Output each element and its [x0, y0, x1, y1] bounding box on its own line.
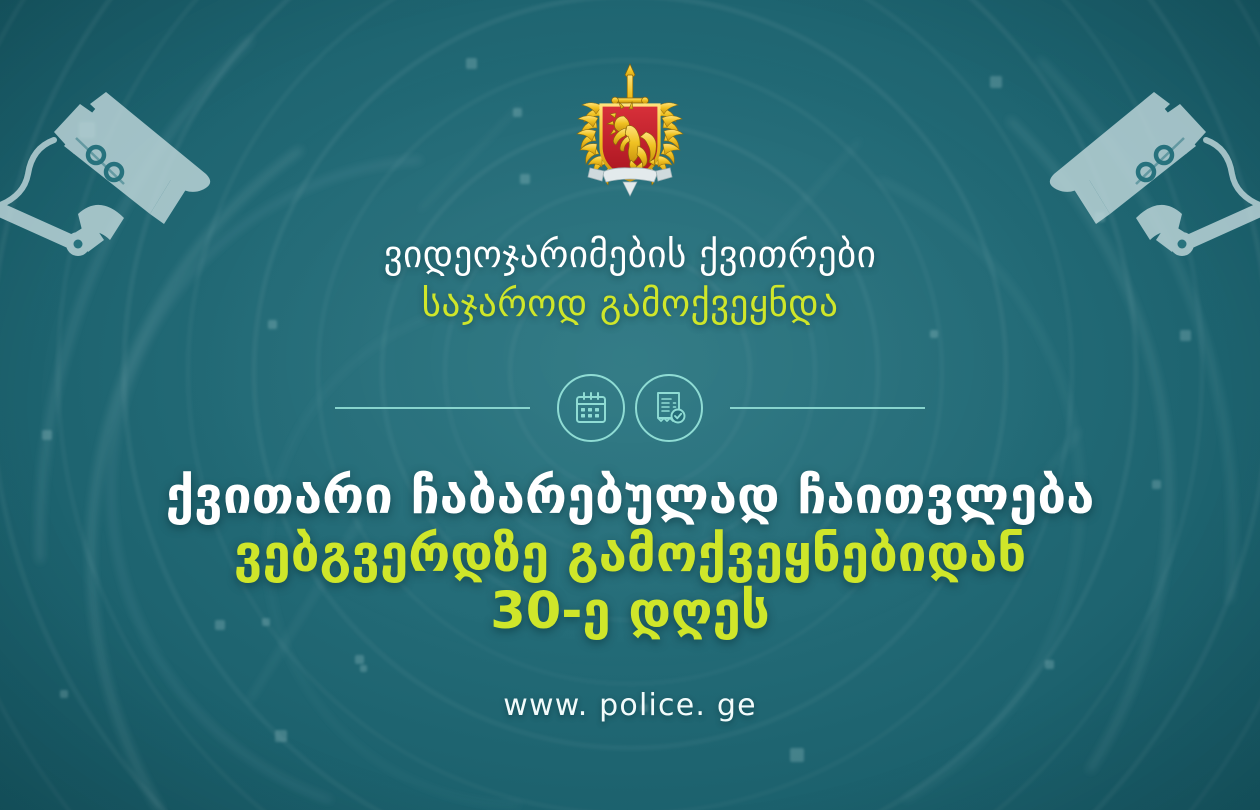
- subtitle-block: ვიდეოჯარიმების ქვითრები საჯაროდ გამოქვეყ…: [0, 232, 1260, 326]
- icon-divider: [0, 368, 1260, 448]
- headline-line-2: ვებგვერდზე გამოქვეყნებიდან: [0, 526, 1260, 584]
- headline-line-3: 30-ე დღეს: [0, 583, 1260, 641]
- headline-block: ქვითარი ჩაბარებულად ჩაითვლება ვებგვერდზე…: [0, 468, 1260, 641]
- calendar-icon-badge: [557, 374, 625, 442]
- subtitle-line-1: ვიდეოჯარიმების ქვითრები: [0, 232, 1260, 277]
- ministry-of-internal-affairs-emblem: [570, 58, 690, 200]
- website-url[interactable]: www. police. ge: [0, 688, 1260, 723]
- banner-canvas: ვიდეოჯარიმების ქვითრები საჯაროდ გამოქვეყ…: [0, 0, 1260, 810]
- document-check-icon-badge: [635, 374, 703, 442]
- document-check-icon: [650, 389, 688, 427]
- calendar-icon: [572, 389, 610, 427]
- divider-rule-right: [730, 407, 925, 409]
- headline-line-1: ქვითარი ჩაბარებულად ჩაითვლება: [0, 468, 1260, 526]
- divider-rule-left: [335, 407, 530, 409]
- subtitle-line-2: საჯაროდ გამოქვეყნდა: [0, 281, 1260, 326]
